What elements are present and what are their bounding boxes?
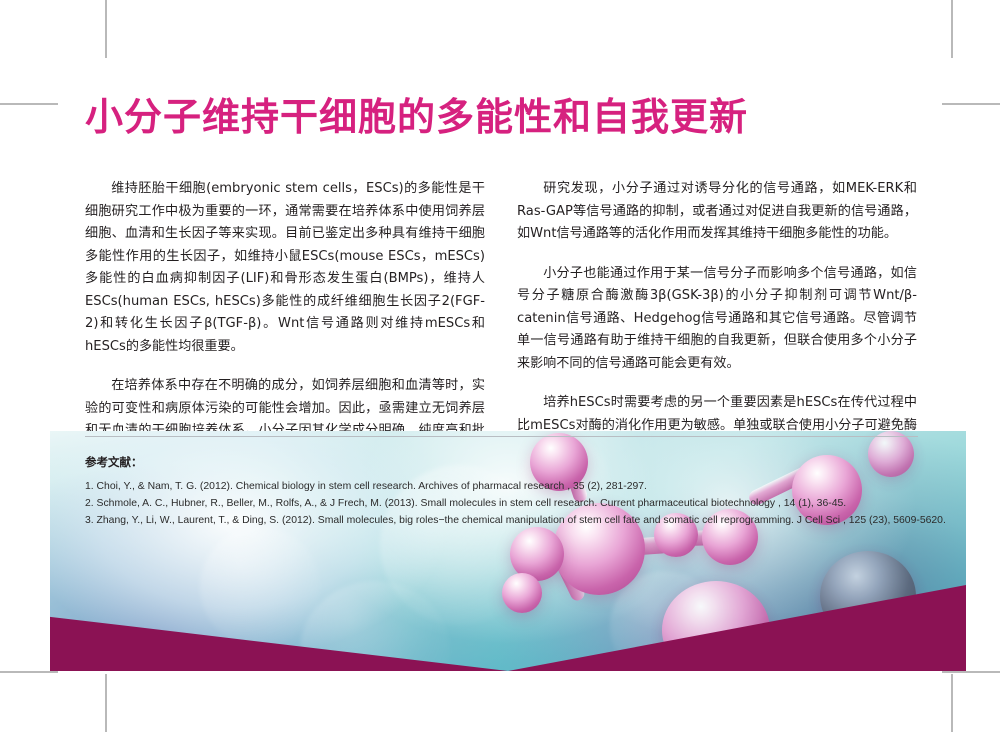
reference-item: 2. Schmole, A. C., Hubner, R., Beller, M…: [85, 496, 918, 513]
paragraph: 维持胚胎干细胞(embryonic stem cells，ESCs)的多能性是干…: [85, 178, 485, 358]
crop-mark-top-right-horizontal: [942, 103, 1000, 105]
references-heading: 参考文献：: [85, 454, 918, 470]
paragraph: 研究发现，小分子通过对诱导分化的信号通路，如MEK-ERK和Ras-GAP等信号…: [517, 178, 917, 246]
background-bubble: [200, 527, 320, 647]
molecule-sphere: [502, 573, 542, 613]
paragraph: 小分子也能通过作用于某一信号分子而影响多个信号通路，如信号分子糖原合酶激酶3β(…: [517, 263, 917, 376]
crop-mark-top-left-horizontal: [0, 103, 58, 105]
crop-mark-top-left-vertical: [105, 0, 107, 58]
page-title: 小分子维持干细胞的多能性和自我更新: [85, 96, 915, 140]
reference-item: 1. Choi, Y., & Nam, T. G. (2012). Chemic…: [85, 479, 918, 496]
reference-item: 3. Zhang, Y., Li, W., Laurent, T., & Din…: [85, 513, 918, 530]
references-block: 参考文献： 1. Choi, Y., & Nam, T. G. (2012). …: [85, 436, 918, 530]
crop-mark-bottom-left-horizontal: [0, 671, 58, 673]
crop-mark-bottom-right-horizontal: [942, 671, 1000, 673]
crop-mark-bottom-right-vertical: [951, 674, 953, 732]
print-page: 小分子维持干细胞的多能性和自我更新 维持胚胎干细胞(embryonic stem…: [0, 0, 1000, 732]
crop-mark-bottom-left-vertical: [105, 674, 107, 732]
crop-mark-top-right-vertical: [951, 0, 953, 58]
references-divider: [85, 436, 918, 437]
